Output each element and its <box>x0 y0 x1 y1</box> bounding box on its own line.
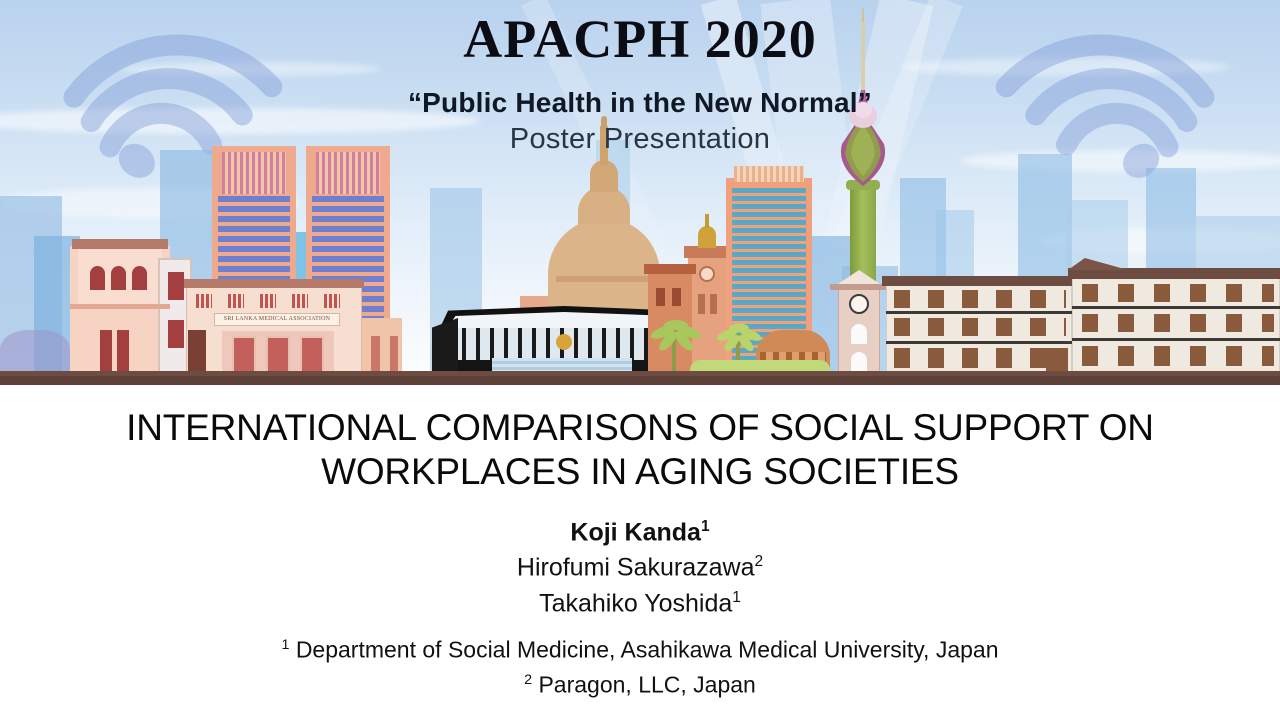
author-item: Takahiko Yoshida1 <box>0 583 1280 618</box>
author-list: Koji Kanda1 Hirofumi Sakurazawa2 Takahik… <box>0 512 1280 618</box>
author-item: Koji Kanda1 <box>0 512 1280 547</box>
conference-title: APACPH 2020 <box>0 8 1280 70</box>
author-name: Takahiko Yoshida <box>539 589 732 617</box>
affiliation-text: Department of Social Medicine, Asahikawa… <box>296 637 999 663</box>
page-title-line-1: INTERNATIONAL COMPARISONS OF SOCIAL SUPP… <box>40 406 1240 450</box>
author-item: Hirofumi Sakurazawa2 <box>0 547 1280 582</box>
conference-theme: “Public Health in the New Normal” <box>0 86 1280 120</box>
affiliation-text: Paragon, LLC, Japan <box>538 671 755 697</box>
affiliation-marker: 2 <box>524 672 532 688</box>
affiliation-item: 2 Paragon, LLC, Japan <box>0 665 1280 700</box>
author-affiliation-marker: 2 <box>754 553 763 570</box>
session-type: Poster Presentation <box>0 120 1280 158</box>
author-affiliation-marker: 1 <box>732 589 741 606</box>
affiliation-item: 1 Department of Social Medicine, Asahika… <box>0 630 1280 665</box>
author-affiliation-marker: 1 <box>701 518 710 535</box>
page-title-line-2: WORKPLACES IN AGING SOCIETIES <box>40 450 1240 494</box>
poster-title-slide: SRI LANKA MEDICAL ASSOCIATION <box>0 0 1280 720</box>
author-name: Koji Kanda <box>570 518 701 546</box>
text-layer: APACPH 2020 “Public Health in the New No… <box>0 0 1280 720</box>
author-name: Hirofumi Sakurazawa <box>517 554 755 582</box>
affiliation-marker: 1 <box>281 637 289 653</box>
affiliation-list: 1 Department of Social Medicine, Asahika… <box>0 630 1280 699</box>
page-title: INTERNATIONAL COMPARISONS OF SOCIAL SUPP… <box>40 406 1240 494</box>
